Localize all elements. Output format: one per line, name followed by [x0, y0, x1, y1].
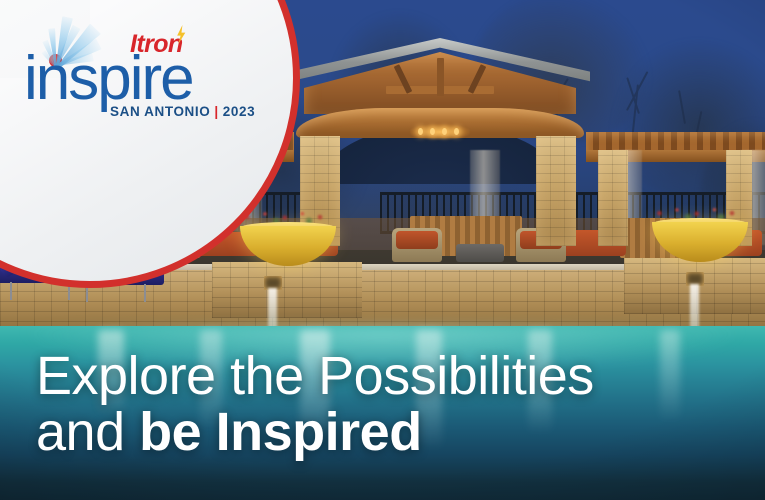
king-post: [437, 58, 444, 96]
headline-line-2-lead: and: [36, 402, 125, 462]
separator: |: [214, 104, 218, 119]
coffee-table: [456, 244, 504, 262]
event-year: 2023: [223, 104, 255, 119]
headline-line-2-strong: be Inspired: [139, 402, 422, 462]
chandelier-light: [442, 128, 447, 135]
headline-line-1: Explore the Possibilities: [36, 348, 736, 404]
headline: Explore the Possibilities and be Inspire…: [36, 348, 736, 460]
chandelier-light: [418, 128, 423, 135]
stone-column: [598, 150, 628, 246]
event-city: SAN ANTONIO: [110, 104, 210, 119]
lounge-armchair: [392, 228, 442, 262]
chandelier-light: [454, 128, 459, 135]
chandelier-light: [430, 128, 435, 135]
logo-panel: Itron inspire SAN ANTONIO|2023: [0, 0, 320, 200]
fire-bowl-base: [212, 262, 362, 318]
inspire-logo: Itron inspire SAN ANTONIO|2023: [24, 8, 234, 123]
event-location-year: SAN ANTONIO|2023: [110, 104, 255, 119]
stone-column: [536, 136, 576, 246]
inspire-wordmark: inspire: [24, 48, 193, 110]
headline-line-2: and be Inspired: [36, 404, 736, 460]
event-banner: Itron inspire SAN ANTONIO|2023 Explore t…: [0, 0, 765, 500]
